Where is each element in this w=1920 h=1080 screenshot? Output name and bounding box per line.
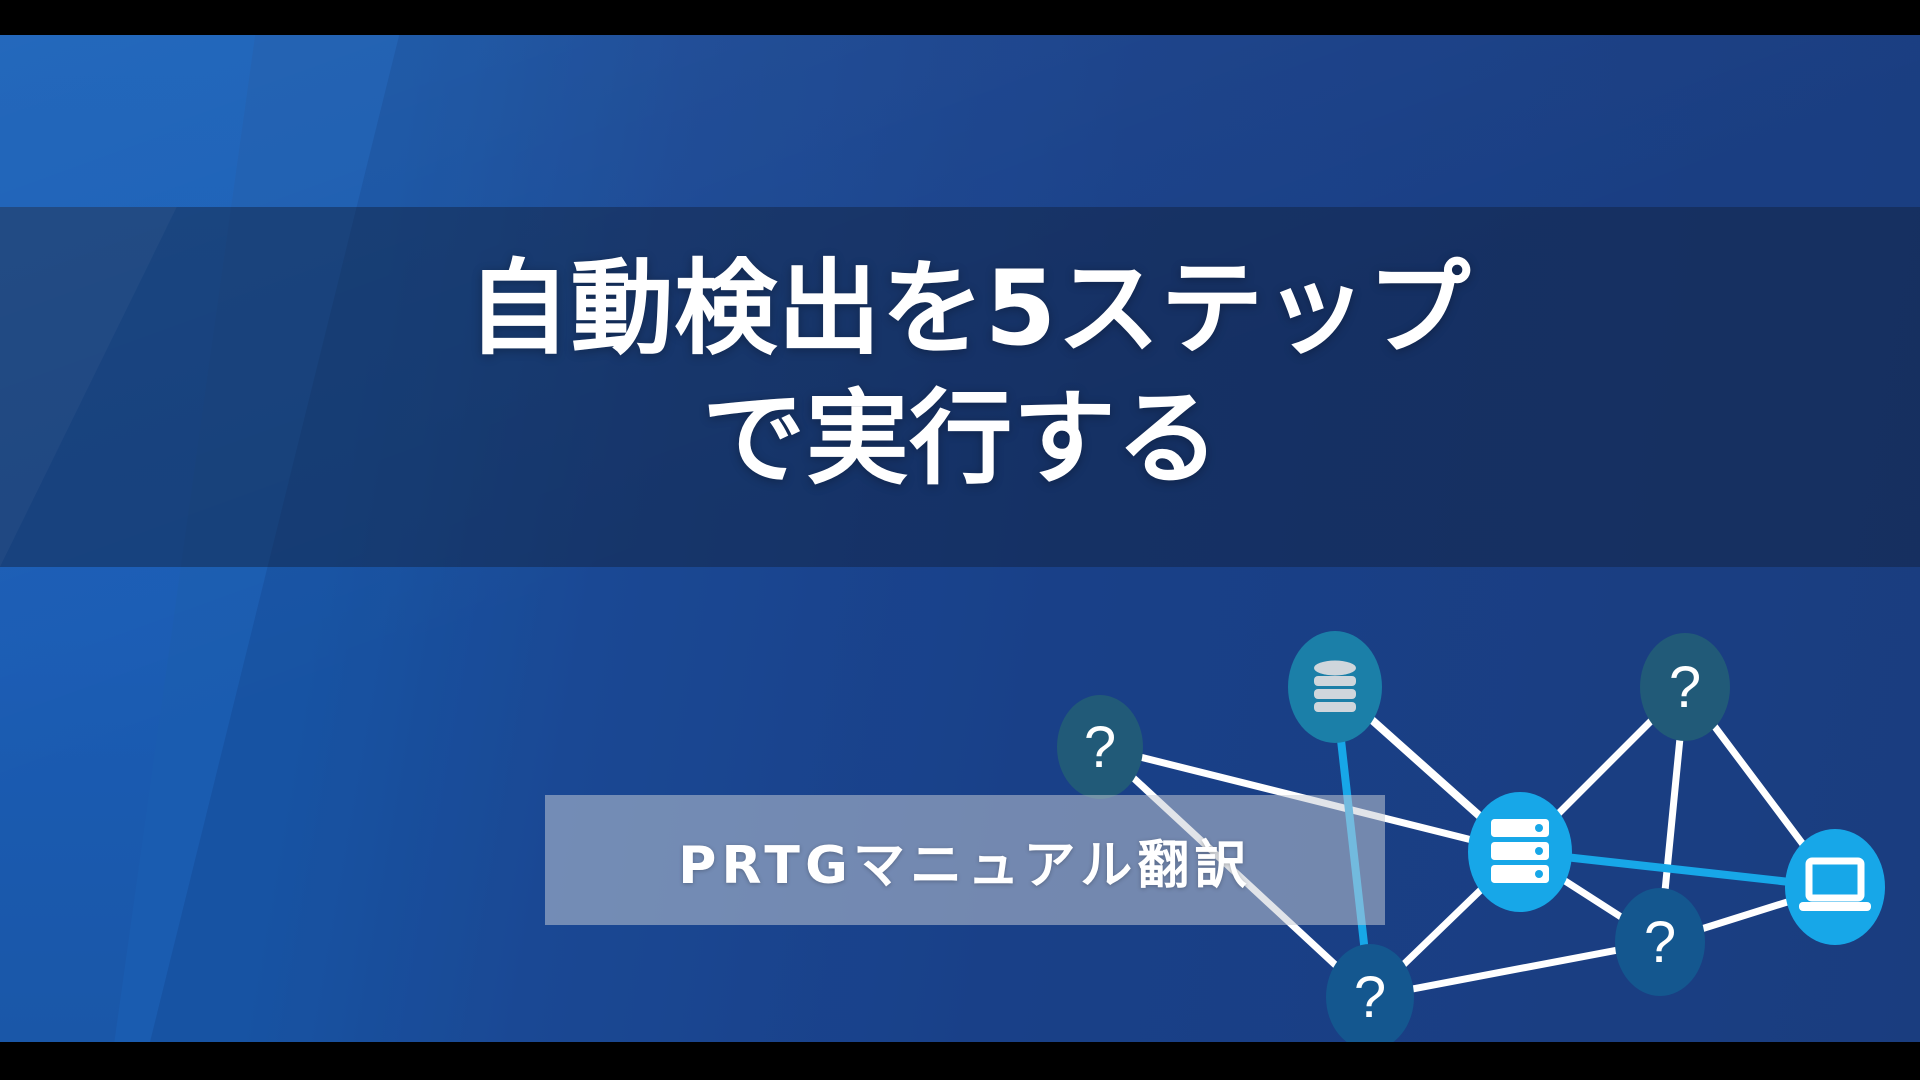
title-line-1: 自動検出を5ステップ bbox=[18, 245, 1920, 375]
svg-text:?: ? bbox=[1644, 910, 1676, 975]
network-node-circle bbox=[1785, 829, 1885, 945]
slide-canvas: ???? 自動検出を5ステップ で実行する PRTGマニュアル翻訳 bbox=[0, 0, 1920, 1080]
network-node-circle bbox=[1288, 631, 1382, 743]
network-node: ? bbox=[1640, 633, 1730, 741]
letterbox-bar-bottom bbox=[0, 1042, 1920, 1080]
network-node bbox=[1288, 631, 1382, 743]
network-node bbox=[1785, 829, 1885, 945]
network-node: ? bbox=[1326, 944, 1414, 1050]
page-title: 自動検出を5ステップ で実行する bbox=[0, 245, 1920, 505]
network-diagram: ???? bbox=[1020, 542, 1920, 1042]
title-line-2: で実行する bbox=[2, 375, 1920, 505]
question-mark-icon: ? bbox=[1669, 655, 1701, 720]
svg-text:?: ? bbox=[1669, 655, 1701, 720]
question-mark-icon: ? bbox=[1644, 910, 1676, 975]
network-node: ? bbox=[1615, 888, 1705, 996]
question-mark-icon: ? bbox=[1354, 965, 1386, 1030]
subtitle-plaque: PRTGマニュアル翻訳 bbox=[545, 795, 1385, 925]
letterbox-bar-top bbox=[0, 0, 1920, 35]
network-node bbox=[1468, 792, 1572, 912]
svg-text:?: ? bbox=[1354, 965, 1386, 1030]
network-node: ? bbox=[1057, 695, 1143, 799]
question-mark-icon: ? bbox=[1084, 715, 1116, 780]
server-stack-icon bbox=[1491, 819, 1549, 883]
svg-text:?: ? bbox=[1084, 715, 1116, 780]
subtitle-text: PRTGマニュアル翻訳 bbox=[678, 823, 1252, 898]
